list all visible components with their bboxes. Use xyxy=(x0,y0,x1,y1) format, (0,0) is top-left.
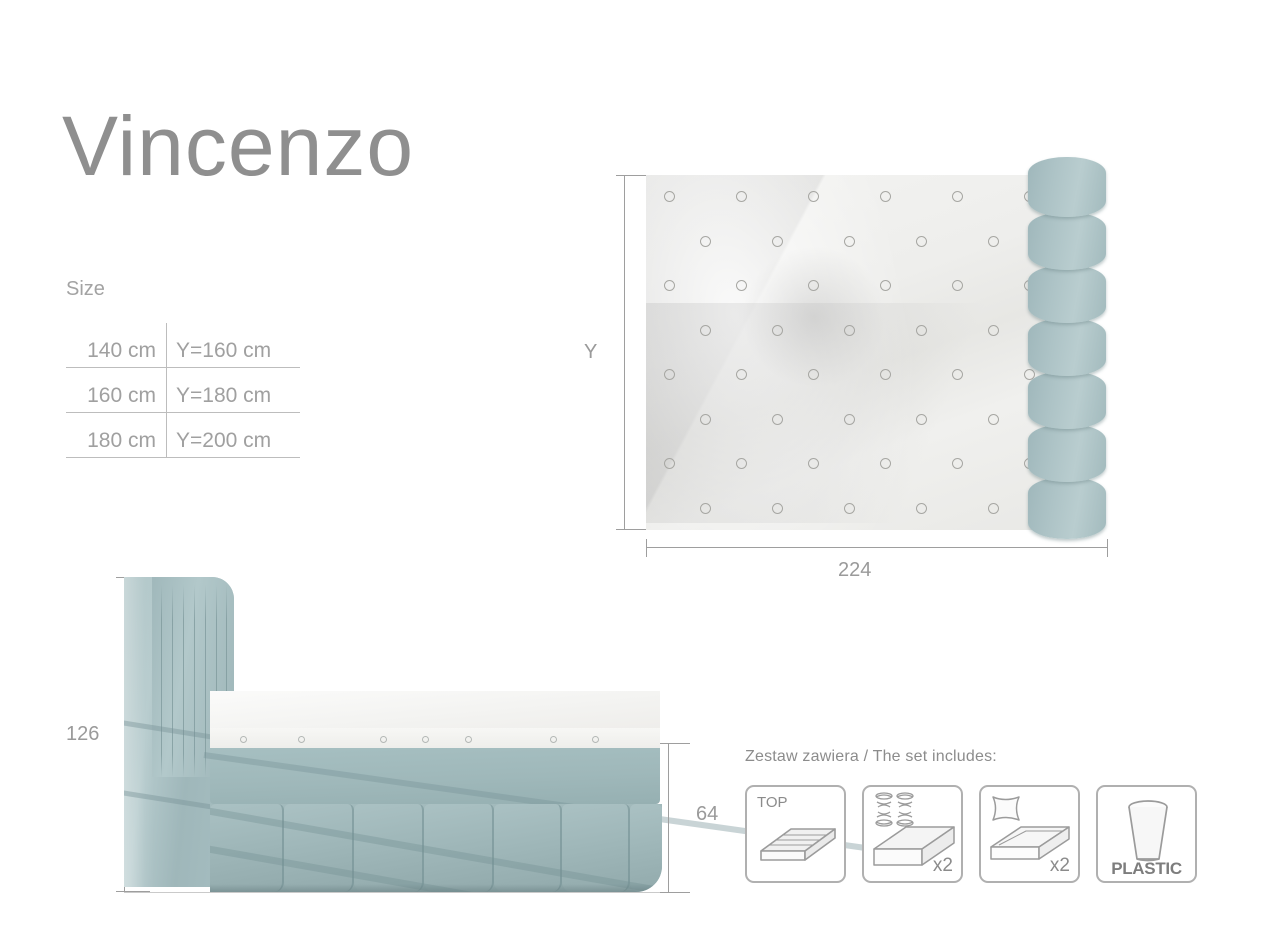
headboard-channel-segment xyxy=(1028,477,1106,539)
edge-highlight xyxy=(124,577,154,887)
set-item-spring-mattress[interactable]: x2 xyxy=(862,785,963,883)
ground-shadow xyxy=(210,884,662,892)
set-includes-title: Zestaw zawiera / The set includes: xyxy=(745,748,1197,766)
tufting-button xyxy=(700,325,711,336)
tufting-button xyxy=(700,503,711,514)
tufting-button xyxy=(736,280,747,291)
tufting-button xyxy=(916,503,927,514)
tufting-button xyxy=(664,191,675,202)
size-width-value: 140 cm xyxy=(66,340,166,367)
tufting-button xyxy=(988,236,999,247)
size-length-value: Y=160 cm xyxy=(166,340,300,367)
dimension-line-bed-height xyxy=(668,743,669,893)
mattress-top-surface xyxy=(646,175,1046,530)
tufting-button xyxy=(844,325,855,336)
mattress-topper-side xyxy=(210,691,660,749)
tufting-button xyxy=(952,458,963,469)
tufting-button xyxy=(772,236,783,247)
table-row: 180 cm Y=200 cm xyxy=(66,413,300,458)
set-includes-icon-row: TOP x2 xyxy=(745,785,1197,883)
dimension-line-width xyxy=(646,547,1108,548)
product-spec-sheet: Vincenzo Size 140 cm Y=160 cm 160 cm Y=1… xyxy=(0,0,1280,947)
page-title: Vincenzo xyxy=(62,104,414,188)
headboard-channel-segment xyxy=(1028,265,1106,323)
tufting-button xyxy=(736,191,747,202)
bed-top-view-illustration: Y 224 xyxy=(610,155,1110,555)
tufting-button xyxy=(952,191,963,202)
dimension-tick xyxy=(1107,539,1108,557)
total-height-label: 126 xyxy=(66,723,99,746)
headboard-channel-segment xyxy=(1028,157,1106,217)
tufting-button xyxy=(772,503,783,514)
tufting-button xyxy=(700,236,711,247)
tufting-button xyxy=(952,280,963,291)
dimension-line-depth xyxy=(624,175,625,530)
width-dimension-label: 224 xyxy=(838,559,871,582)
tufting-button xyxy=(772,325,783,336)
table-row: 140 cm Y=160 cm xyxy=(66,323,300,368)
tufting-button xyxy=(988,503,999,514)
dimension-tick xyxy=(646,539,647,557)
size-width-value: 160 cm xyxy=(66,385,166,412)
size-table-column-divider xyxy=(166,323,167,458)
headboard-channel-segment xyxy=(1028,212,1106,270)
slatted-base-with-cushion-icon xyxy=(981,787,1082,885)
headboard-channel-segment xyxy=(1028,424,1106,482)
tufting-button xyxy=(664,369,675,380)
set-includes-section: Zestaw zawiera / The set includes: TOP xyxy=(745,748,1197,883)
headboard-top-view xyxy=(1028,157,1108,547)
size-width-value: 180 cm xyxy=(66,430,166,457)
tufting-button xyxy=(988,414,999,425)
tufting-button xyxy=(880,458,891,469)
tufting-button xyxy=(916,236,927,247)
tufting-button xyxy=(844,503,855,514)
tufting-button xyxy=(772,414,783,425)
plastic-leg-icon xyxy=(1098,787,1199,885)
headboard-channel-segment xyxy=(1028,318,1106,376)
dimension-tick xyxy=(616,529,646,530)
size-label: Size xyxy=(66,278,312,301)
tufting-button xyxy=(736,458,747,469)
headboard-channel-segment xyxy=(1028,371,1106,429)
size-table: 140 cm Y=160 cm 160 cm Y=180 cm 180 cm Y… xyxy=(66,323,300,458)
bed-height-label: 64 xyxy=(696,803,718,826)
box-spring-side xyxy=(210,748,660,804)
depth-dimension-label: Y xyxy=(584,341,597,364)
tufting-button xyxy=(808,191,819,202)
dimension-tick xyxy=(660,743,690,744)
tufting-button-grid xyxy=(646,175,1046,530)
floor-line xyxy=(124,892,670,893)
tufting-button xyxy=(808,280,819,291)
tufting-button xyxy=(952,369,963,380)
tufting-button xyxy=(664,458,675,469)
tufting-button xyxy=(808,458,819,469)
tufting-button xyxy=(844,236,855,247)
tufting-button xyxy=(988,325,999,336)
mattress-topper-icon xyxy=(747,787,848,885)
bed-side-view-illustration: 126 xyxy=(100,565,700,905)
spring-mattress-icon xyxy=(864,787,965,885)
tufting-button xyxy=(880,280,891,291)
set-item-mattress-topper[interactable]: TOP xyxy=(745,785,846,883)
size-length-value: Y=200 cm xyxy=(166,430,300,457)
tufting-button xyxy=(736,369,747,380)
table-row: 160 cm Y=180 cm xyxy=(66,368,300,413)
dimension-tick xyxy=(616,175,646,176)
tufting-button xyxy=(916,325,927,336)
tufting-button xyxy=(880,369,891,380)
tufting-button xyxy=(844,414,855,425)
tufting-button xyxy=(880,191,891,202)
upholstered-base-side xyxy=(210,804,662,892)
size-section: Size 140 cm Y=160 cm 160 cm Y=180 cm 180… xyxy=(66,278,312,458)
tufting-button xyxy=(700,414,711,425)
set-item-slatted-base[interactable]: x2 xyxy=(979,785,1080,883)
tufting-button xyxy=(916,414,927,425)
tufting-button xyxy=(808,369,819,380)
size-length-value: Y=180 cm xyxy=(166,385,300,412)
tufting-button xyxy=(664,280,675,291)
set-item-plastic-leg[interactable]: PLASTIC xyxy=(1096,785,1197,883)
